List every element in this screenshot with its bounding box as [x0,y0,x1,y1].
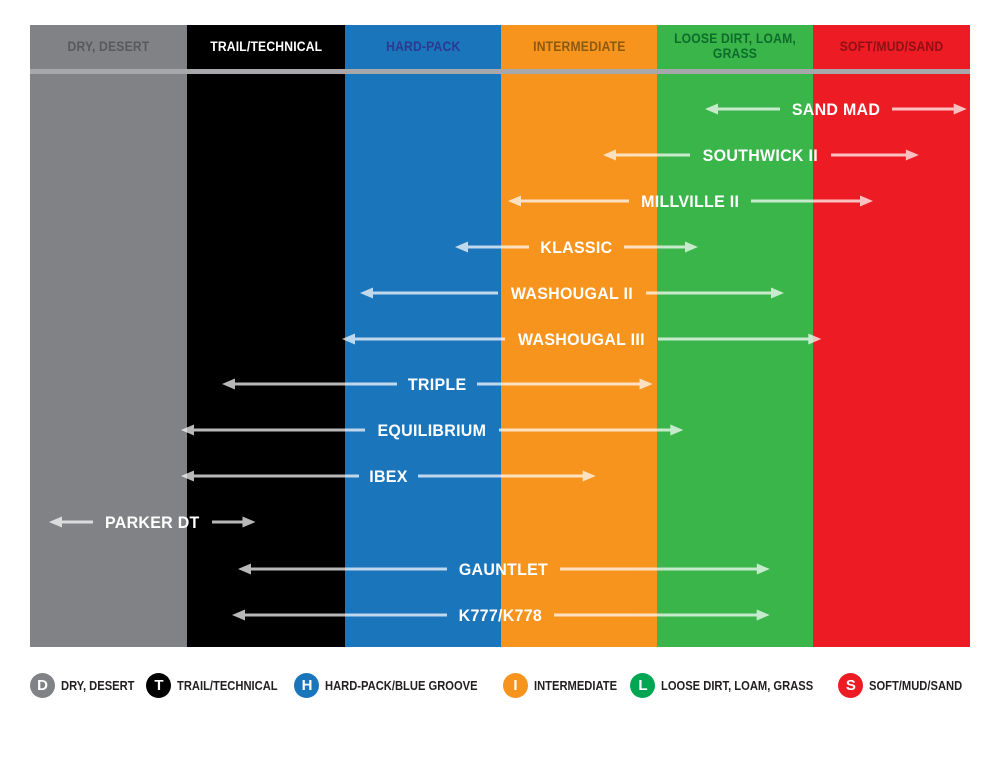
tire-model-label: PARKER DT [97,514,208,531]
tire-range-row[interactable]: SAND MAD [705,96,960,122]
tire-range-row[interactable]: GAUNTLET [238,556,763,582]
legend-badge-icon: L [630,673,655,698]
terrain-header-label: SOFT/MUD/SAND [840,40,944,55]
legend-badge-icon: H [294,673,319,698]
legend-badge-letter: T [154,677,163,694]
legend-item-i[interactable]: IINTERMEDIATE [503,673,631,698]
legend-badge-icon: I [503,673,528,698]
tire-model-label: SOUTHWICK II [694,147,826,164]
legend-badge-letter: S [846,677,856,694]
terrain-compatibility-chart: DRY, DESERTTRAIL/TECHNICALHARD-PACKINTER… [0,0,1000,769]
tire-range-row[interactable]: EQUILIBRIUM [181,417,675,443]
tire-range-row[interactable]: PARKER DT [49,509,248,535]
tire-model-label: EQUILIBRIUM [369,422,495,439]
terrain-legend: DDRY, DESERTTTRAIL/TECHNICALHHARD-PACK/B… [30,668,970,702]
terrain-column-0 [30,74,187,647]
legend-badge-icon: T [146,673,171,698]
legend-label: DRY, DESERT [61,679,135,692]
tire-model-label: K777/K778 [450,607,550,624]
tire-range-row[interactable]: SOUTHWICK II [603,142,910,168]
tire-model-label: MILLVILLE II [633,193,748,210]
terrain-header-4: LOOSE DIRT, LOAM, GRASS [657,25,813,69]
legend-badge-icon: D [30,673,55,698]
terrain-header-label: TRAIL/TECHNICAL [210,40,322,55]
legend-item-d[interactable]: DDRY, DESERT [30,673,146,698]
tire-model-label: WASHOUGAL II [502,285,641,302]
legend-badge-letter: L [638,677,647,694]
tire-model-label: WASHOUGAL III [510,331,654,348]
legend-label: HARD-PACK/BLUE GROOVE [325,679,478,692]
tire-model-label: SAND MAD [783,101,888,118]
terrain-header-label: HARD-PACK [386,40,460,55]
legend-item-h[interactable]: HHARD-PACK/BLUE GROOVE [294,673,502,698]
tire-range-row[interactable]: K777/K778 [232,602,763,628]
terrain-header-2: HARD-PACK [345,25,501,69]
terrain-header-band: DRY, DESERTTRAIL/TECHNICALHARD-PACKINTER… [30,25,970,69]
terrain-header-label: LOOSE DIRT, LOAM, GRASS [668,32,801,61]
legend-badge-letter: H [302,677,313,694]
legend-label: TRAIL/TECHNICAL [177,679,278,692]
tire-model-label: TRIPLE [399,376,474,393]
tire-range-row[interactable]: IBEX [181,463,592,489]
legend-badge-icon: S [838,673,863,698]
tire-range-row[interactable]: TRIPLE [222,371,648,397]
tire-model-label: KLASSIC [532,239,621,256]
terrain-header-0: DRY, DESERT [30,25,187,69]
legend-badge-letter: D [37,677,48,694]
legend-label: LOOSE DIRT, LOAM, GRASS [661,679,813,692]
terrain-header-3: INTERMEDIATE [501,25,657,69]
terrain-header-5: SOFT/MUD/SAND [813,25,970,69]
terrain-header-label: DRY, DESERT [68,40,150,55]
tire-range-row[interactable]: MILLVILLE II [508,188,866,214]
legend-badge-letter: I [513,677,517,694]
tire-range-row[interactable]: KLASSIC [455,234,692,260]
terrain-header-1: TRAIL/TECHNICAL [187,25,345,69]
tire-range-row[interactable]: WASHOUGAL II [360,280,775,306]
legend-label: SOFT/MUD/SAND [869,679,962,692]
legend-label: INTERMEDIATE [534,679,617,692]
legend-item-t[interactable]: TTRAIL/TECHNICAL [146,673,294,698]
legend-item-l[interactable]: LLOOSE DIRT, LOAM, GRASS [630,673,838,698]
tire-range-row[interactable]: WASHOUGAL III [342,326,812,352]
terrain-header-label: INTERMEDIATE [533,40,625,55]
tire-model-label: GAUNTLET [450,561,556,578]
tire-model-label: IBEX [361,468,416,485]
legend-item-s[interactable]: SSOFT/MUD/SAND [838,673,977,698]
